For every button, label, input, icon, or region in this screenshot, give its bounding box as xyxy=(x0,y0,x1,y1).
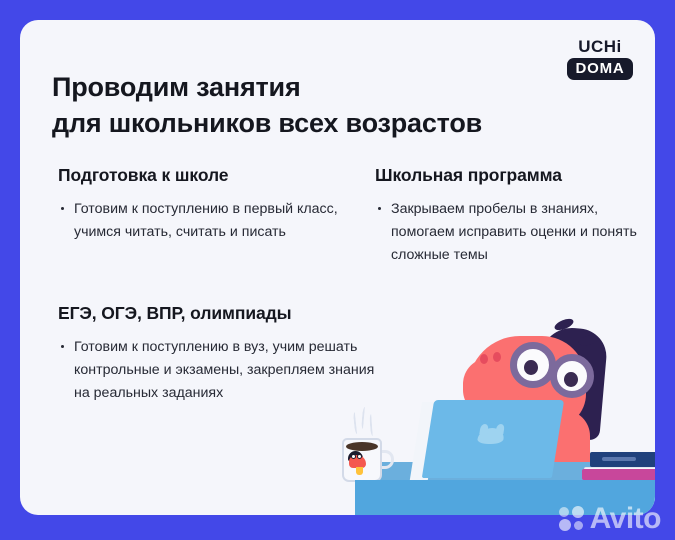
avito-wordmark: Avito xyxy=(590,504,661,534)
section-school-program-list: Закрываем пробелы в знаниях, помогаем ис… xyxy=(375,198,655,267)
poster-root: UCHi DOMA Проводим занятия для школьнико… xyxy=(0,0,675,540)
dino-nostril-left xyxy=(480,354,488,364)
avito-dots-icon xyxy=(559,506,585,532)
dino-pupil-left xyxy=(524,360,538,375)
list-item: Готовим к поступлению в первый класс, уч… xyxy=(58,198,348,244)
dino-pupil-right xyxy=(564,372,578,387)
section-preschool: Подготовка к школе Готовим к поступлению… xyxy=(58,165,348,244)
page-title-line-1: Проводим занятия xyxy=(52,70,572,106)
section-school-program-title: Школьная программа xyxy=(375,165,655,187)
book-magenta xyxy=(582,469,655,480)
list-item: Закрываем пробелы в знаниях, помогаем ис… xyxy=(375,198,655,267)
section-preschool-list: Готовим к поступлению в первый класс, уч… xyxy=(58,198,348,244)
mug-coffee-surface xyxy=(346,442,378,451)
content-card: UCHi DOMA Проводим занятия для школьнико… xyxy=(20,20,655,515)
book-navy-label xyxy=(602,457,636,461)
mug-dino-foot xyxy=(356,467,363,475)
bullet-dot-icon xyxy=(61,207,64,210)
logo-bottom-text: DOMA xyxy=(567,58,633,80)
list-item-text: Готовим к поступлению в первый класс, уч… xyxy=(74,201,338,240)
mascot-illustration xyxy=(320,310,655,515)
uchi-doma-logo: UCHi DOMA xyxy=(567,38,633,80)
steam-icon xyxy=(353,412,360,434)
section-preschool-title: Подготовка к школе xyxy=(58,165,348,187)
mug-dino-eye-right xyxy=(357,454,362,459)
logo-top-text: UCHi xyxy=(567,38,633,55)
section-school-program: Школьная программа Закрываем пробелы в з… xyxy=(375,165,655,267)
bullet-dot-icon xyxy=(378,207,381,210)
page-title: Проводим занятия для школьников всех воз… xyxy=(52,70,572,141)
page-title-line-2: для школьников всех возрастов xyxy=(52,106,572,142)
list-item-text: Закрываем пробелы в знаниях, помогаем ис… xyxy=(391,201,637,263)
steam-icon xyxy=(361,407,368,429)
avito-watermark: Avito xyxy=(559,504,661,534)
steam-icon xyxy=(369,414,376,436)
dino-nostril-right xyxy=(493,352,501,362)
mug-dino-eye-left xyxy=(351,454,356,459)
laptop-crown-icon xyxy=(477,428,506,444)
bullet-dot-icon xyxy=(61,345,64,348)
